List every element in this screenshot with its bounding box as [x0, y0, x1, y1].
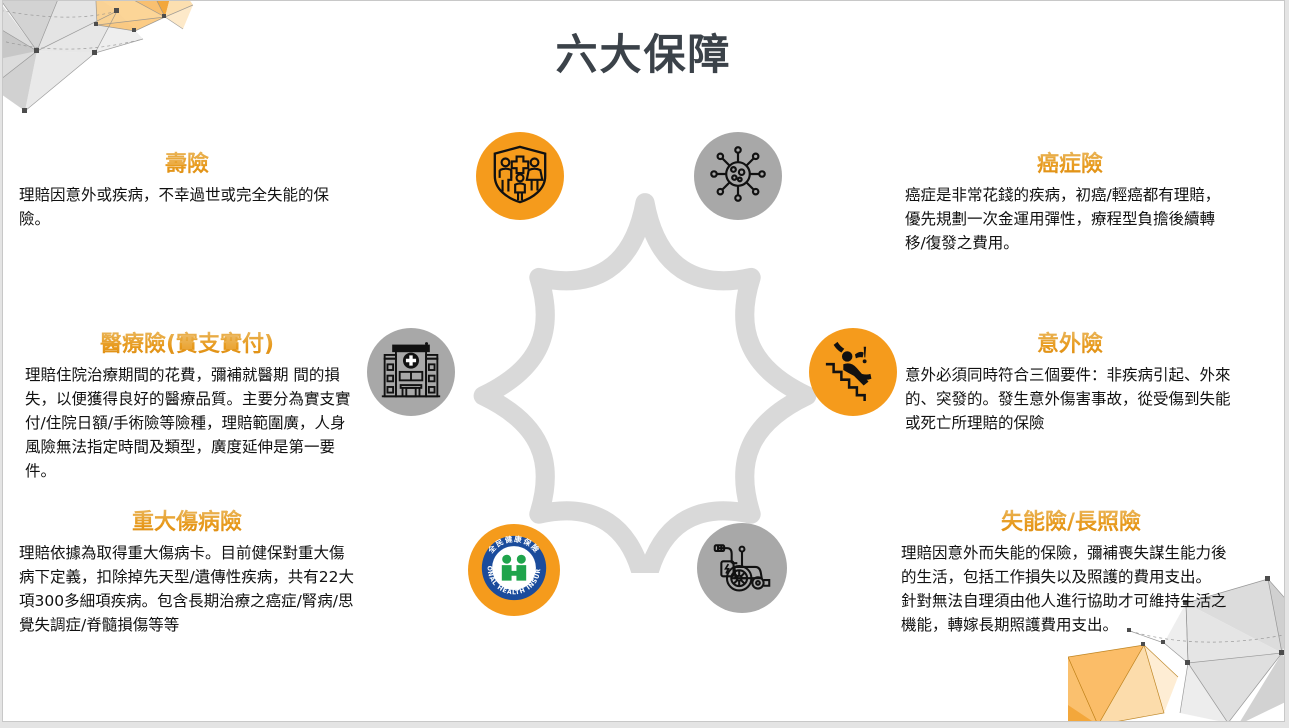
body-life-insurance: 理賠因意外或疾病，不幸過世或完全失能的保險。 — [19, 183, 355, 231]
life-insurance-icon-bubble[interactable] — [476, 132, 564, 220]
national-health-insurance-logo: 全民健康保險 NATIONAL HEALTH INSURANCE — [475, 529, 553, 611]
heading-medical-insurance: 醫療險(實支實付) — [19, 331, 355, 359]
critical-illness-insurance-icon-bubble[interactable]: 全民健康保險 NATIONAL HEALTH INSURANCE — [468, 524, 560, 616]
heading-life-insurance: 壽險 — [19, 151, 355, 179]
text-block-life-insurance: 壽險 理賠因意外或疾病，不幸過世或完全失能的保險。 — [19, 151, 355, 231]
text-block-accident-insurance: 意外險 意外必須同時符合三個要件：非疾病引起、外來的、突發的。發生意外傷害事故，… — [905, 331, 1235, 435]
body-critical-illness-insurance: 理賠依據為取得重大傷病卡。目前健保對重大傷病下定義，扣除掉先天型/遺傳性疾病，共… — [19, 541, 355, 637]
text-block-disability-insurance: 失能險/長照險 理賠因意外而失能的保險，彌補喪失謀生能力後的生活，包括工作損失以… — [901, 509, 1241, 637]
slide-canvas: 六大保障 — [2, 0, 1285, 722]
electric-wheelchair-icon — [711, 535, 773, 601]
page-title: 六大保障 — [3, 21, 1284, 82]
hospital-building-icon — [379, 339, 443, 405]
heading-cancer-insurance: 癌症險 — [905, 151, 1235, 179]
medical-insurance-icon-bubble[interactable] — [367, 328, 455, 416]
heading-critical-illness-insurance: 重大傷病險 — [19, 509, 355, 537]
text-block-critical-illness-insurance: 重大傷病險 理賠依據為取得重大傷病卡。目前健保對重大傷病下定義，扣除掉先天型/遺… — [19, 509, 355, 637]
accident-insurance-icon-bubble[interactable] — [809, 328, 897, 416]
cancer-insurance-icon-bubble[interactable] — [694, 132, 782, 220]
text-block-medical-insurance: 醫療險(實支實付) 理賠住院治療期間的花費，彌補就醫期 間的損失，以便獲得良好的… — [19, 331, 355, 483]
body-cancer-insurance: 癌症是非常花錢的疾病，初癌/輕癌都有理賠，優先規劃一次金運用彈性，療程型負擔後續… — [905, 183, 1235, 255]
virus-icon — [709, 145, 767, 207]
disability-insurance-icon-bubble[interactable] — [697, 523, 787, 613]
body-medical-insurance: 理賠住院治療期間的花費，彌補就醫期 間的損失，以便獲得良好的醫療品質。主要分為實… — [19, 363, 355, 483]
falling-person-stairs-icon — [822, 339, 884, 405]
heading-disability-insurance: 失能險/長照險 — [901, 509, 1241, 537]
family-shield-icon — [489, 143, 551, 209]
body-accident-insurance: 意外必須同時符合三個要件：非疾病引起、外來的、突發的。發生意外傷害事故，從受傷到… — [905, 363, 1235, 435]
text-block-cancer-insurance: 癌症險 癌症是非常花錢的疾病，初癌/輕癌都有理賠，優先規劃一次金運用彈性，療程型… — [905, 151, 1235, 255]
heading-accident-insurance: 意外險 — [905, 331, 1235, 359]
body-disability-insurance: 理賠因意外而失能的保險，彌補喪失謀生能力後的生活，包括工作損失以及照護的費用支出… — [901, 541, 1241, 637]
